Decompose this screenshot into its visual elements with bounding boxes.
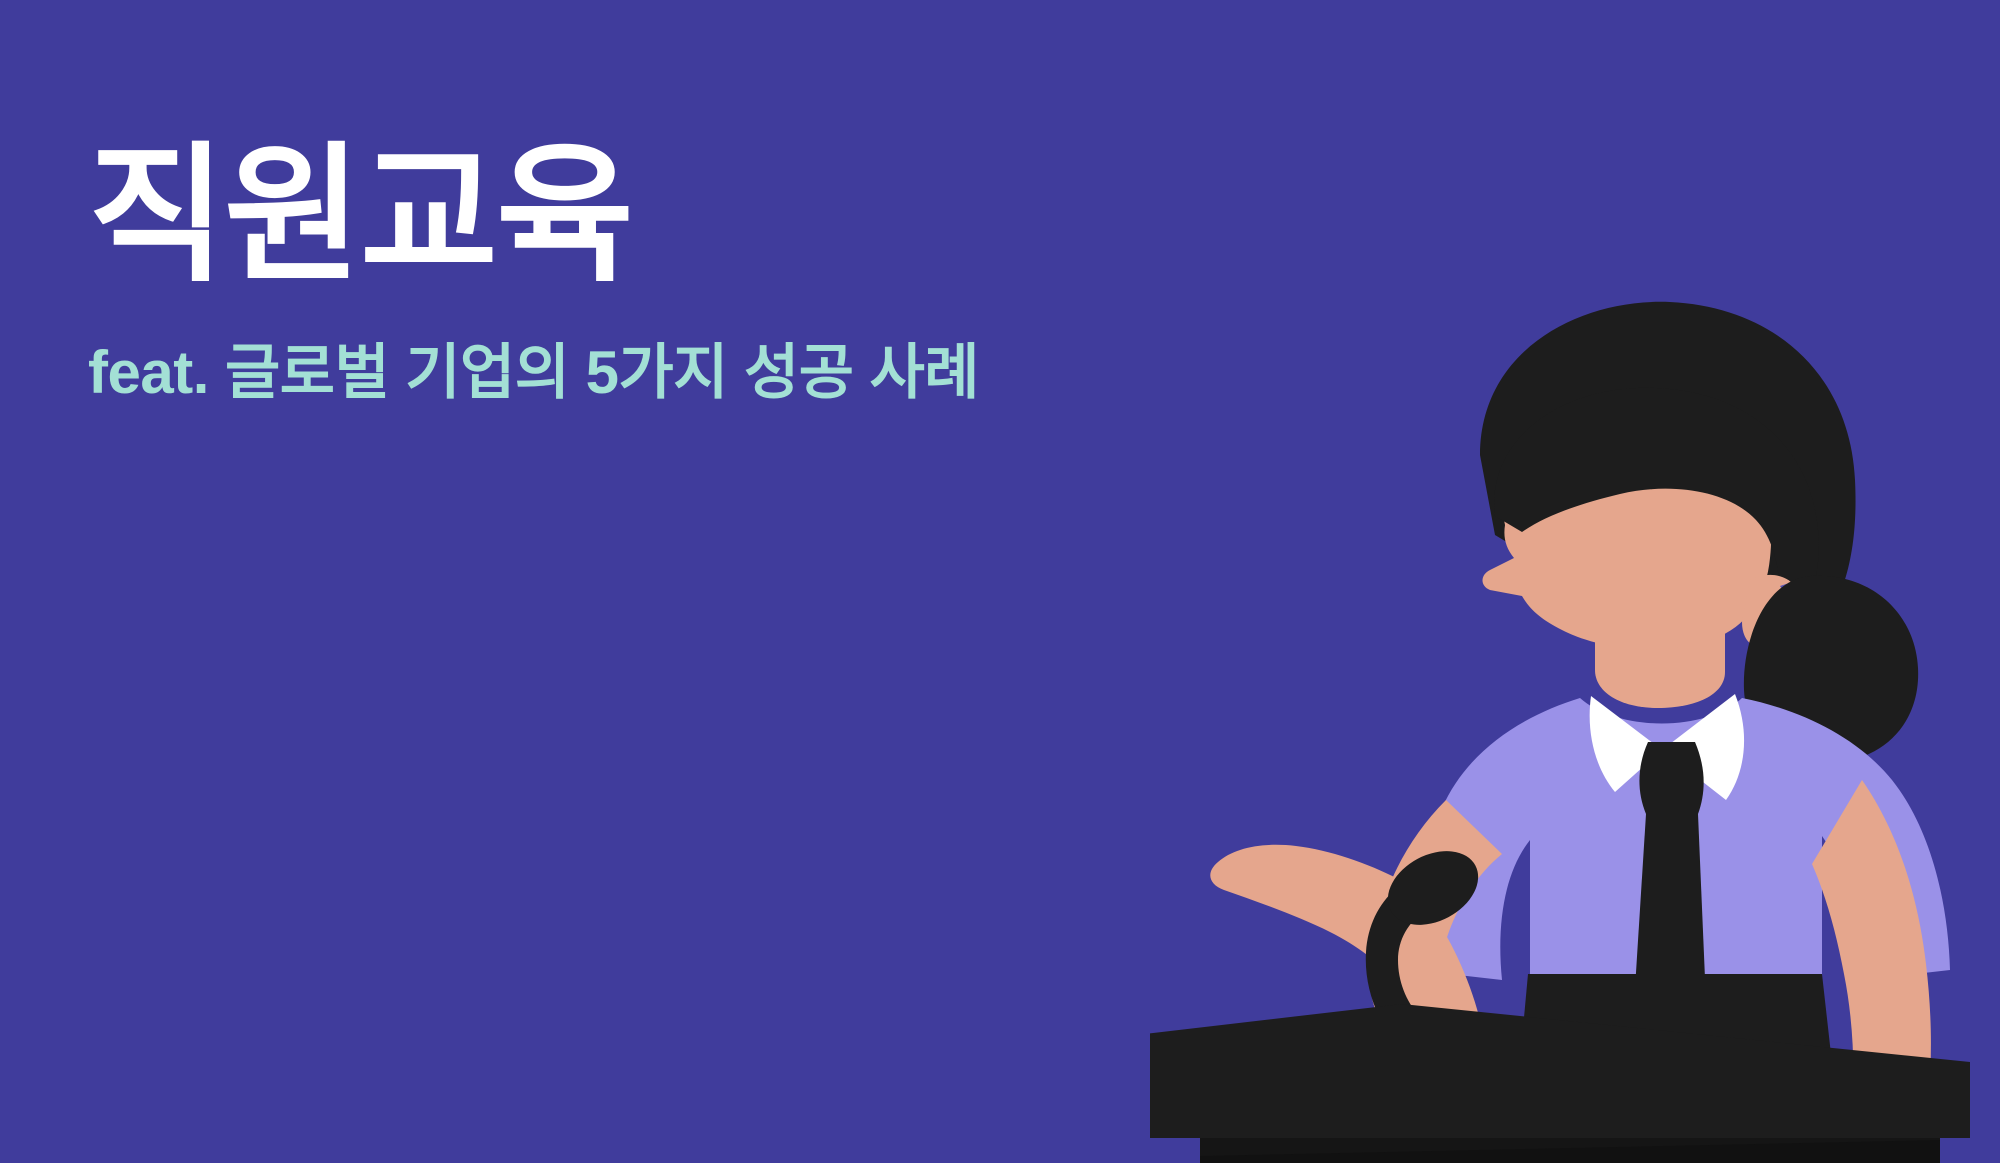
slide-canvas: 직원교육 feat. 글로벌 기업의 5가지 성공 사례 — [0, 0, 2000, 1163]
podium-top-shape — [1150, 1004, 1970, 1138]
tie-knot-shape — [1639, 742, 1703, 814]
page-subtitle: feat. 글로벌 기업의 5가지 성공 사례 — [88, 338, 1138, 407]
page-title: 직원교육 — [88, 140, 1138, 290]
text-block: 직원교육 feat. 글로벌 기업의 5가지 성공 사례 — [88, 140, 1138, 407]
speaker-illustration — [1150, 280, 2000, 1163]
